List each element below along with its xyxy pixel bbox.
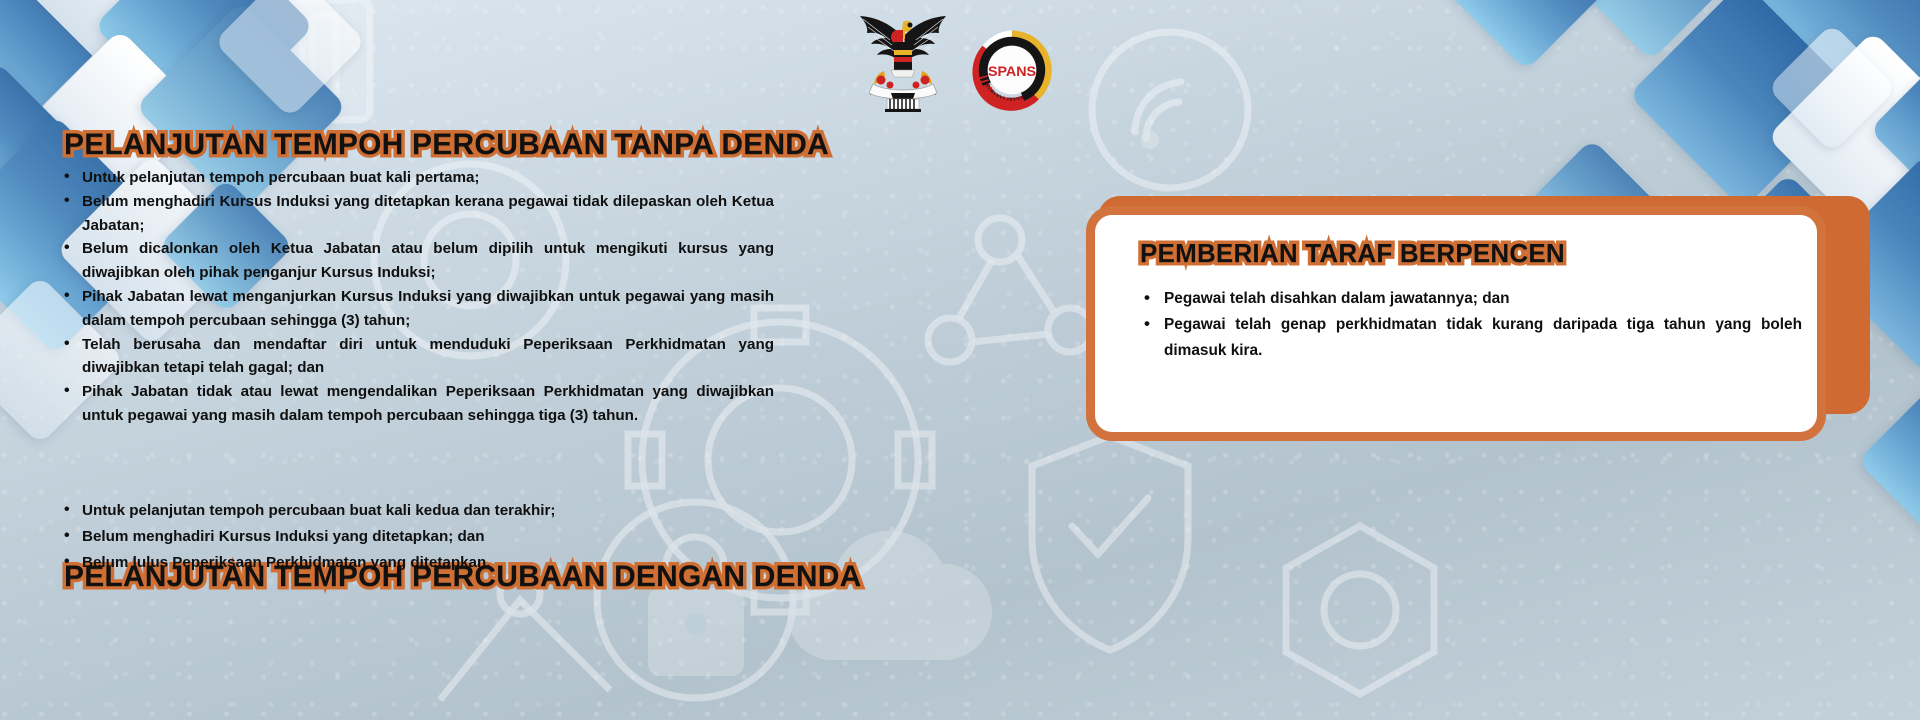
logo-row: SURUHANJAYA PERKHIDMATAN AWAM NEGERI SAR…: [838, 6, 1068, 116]
bullet-list-pemberian-taraf: Pegawai telah disahkan dalam jawatannya;…: [1142, 286, 1802, 364]
list-item: Pihak Jabatan lewat menganjurkan Kursus …: [62, 285, 774, 333]
network-node-icon: [928, 218, 1092, 362]
bullet-list-dengan-denda: Untuk pelanjutan tempoh percubaan buat k…: [62, 498, 774, 576]
list-item: Pegawai telah disahkan dalam jawatannya;…: [1142, 286, 1802, 312]
spans-wordmark: SPANS: [988, 64, 1036, 80]
list-item: Telah berusaha dan mendaftar diri untuk …: [62, 333, 774, 381]
poster-canvas: SURUHANJAYA PERKHIDMATAN AWAM NEGERI SAR…: [0, 0, 1920, 720]
list-item: Untuk pelanjutan tempoh percubaan buat k…: [62, 498, 774, 524]
list-item: Pihak Jabatan tidak atau lewat mengendal…: [62, 380, 774, 428]
card-heading-pemberian-taraf-berpencen: PEMBERIAN TARAF BERPENCEN: [1140, 238, 1565, 269]
sarawak-coat-of-arms: [848, 10, 958, 114]
cloud-icon: [788, 531, 992, 660]
decor-diamond: [1441, 0, 1611, 71]
spans-logo: SURUHANJAYA PERKHIDMATAN AWAM NEGERI SAR…: [970, 28, 1054, 112]
gear-icon: [1286, 526, 1434, 694]
section-heading-tanpa-denda: PELANJUTAN TEMPOH PERCUBAAN TANPA DENDA: [64, 128, 829, 162]
list-item: Untuk pelanjutan tempoh percubaan buat k…: [62, 166, 774, 190]
shield-icon: [1032, 436, 1188, 650]
list-item: Pegawai telah genap perkhidmatan tidak k…: [1142, 312, 1802, 364]
list-item: Belum menghadiri Kursus Induksi yang dit…: [62, 190, 774, 238]
list-item: Belum lulus Peperiksaan Perkhidmatan yan…: [62, 550, 774, 576]
bullet-list-tanpa-denda: Untuk pelanjutan tempoh percubaan buat k…: [62, 166, 774, 428]
list-item: Belum dicalonkan oleh Ketua Jabatan atau…: [62, 237, 774, 285]
wifi-signal-icon: [1092, 32, 1248, 188]
list-item: Belum menghadiri Kursus Induksi yang dit…: [62, 524, 774, 550]
